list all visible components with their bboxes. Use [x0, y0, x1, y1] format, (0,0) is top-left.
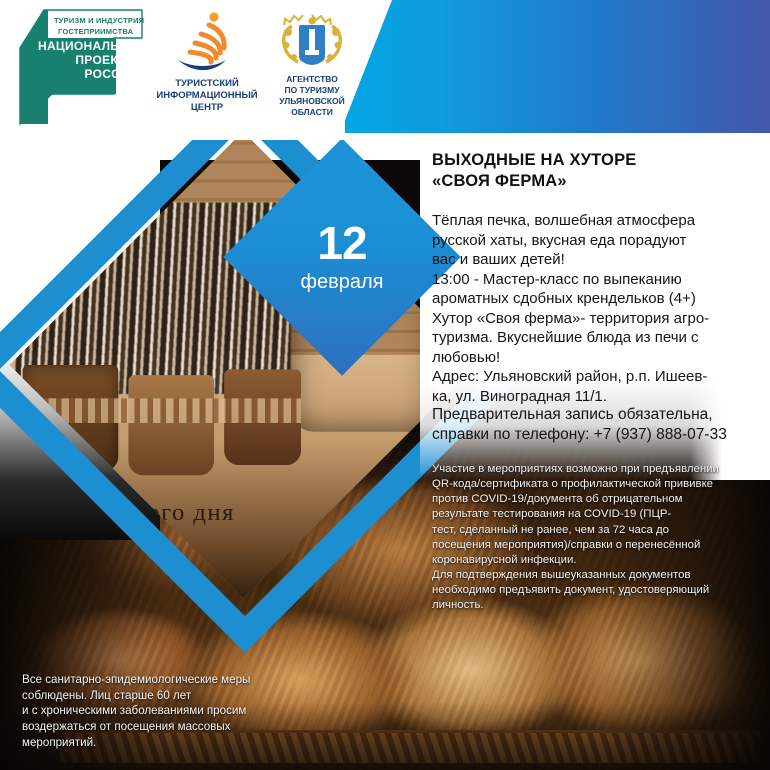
sanitary-notice-line-3: и с хроническими заболеваниями просим — [22, 703, 322, 719]
event-description-line-3: вас и ваших детей! — [432, 250, 762, 270]
np-tagline-line1: ТУРИЗМ И ИНДУСТРИЯ — [54, 16, 144, 25]
event-description-line-10: ка, ул. Виноградная 11/1. — [432, 387, 762, 407]
covid-notice-line-6: посещения мероприятия)/справки о перенес… — [432, 538, 764, 553]
tic-label-line2: ИНФОРМАЦИОННЫЙ — [152, 90, 262, 102]
covid-notice-line-8: Для подтверждения вышеуказанных документ… — [432, 568, 764, 583]
event-title-line1: ВЫХОДНЫЕ НА ХУТОРЕ — [432, 150, 762, 171]
covid-notice-line-3: против COVID-19/документа об отрицательн… — [432, 492, 764, 507]
covid-notice-line-4: результате тестирования на COVID-19 (ПЦР… — [432, 507, 764, 522]
sailboat-icon — [152, 10, 262, 80]
covid-notice-line-9: необходимо предъявить документ, удостове… — [432, 583, 764, 598]
event-description-line-9: Адрес: Ульяновский район, р.п. Ишеев- — [432, 367, 762, 387]
agency-label-line2: ПО ТУРИЗМУ — [262, 85, 362, 96]
agency-label: АГЕНТСТВО ПО ТУРИЗМУ УЛЬЯНОВСКОЙ ОБЛАСТИ — [262, 74, 362, 118]
np-label-line1: НАЦИОНАЛЬНЫЕ — [38, 39, 138, 53]
tourism-agency-logo: АГЕНТСТВО ПО ТУРИЗМУ УЛЬЯНОВСКОЙ ОБЛАСТИ — [262, 12, 362, 130]
event-description-line-1: Тёплая печка, волшебная атмосфера — [432, 211, 762, 231]
booking-line2: справки по телефону: +7 (937) 888-07-33 — [432, 425, 768, 445]
sanitary-notice-line-2: соблюдены. Лиц старше 60 лет — [22, 688, 322, 704]
agency-label-line4: ОБЛАСТИ — [262, 107, 362, 118]
agency-label-line1: АГЕНТСТВО — [262, 74, 362, 85]
covid-notice-line-1: Участие в мероприятиях возможно при пред… — [432, 462, 764, 477]
tic-label: ТУРИСТСКИЙ ИНФОРМАЦИОННЫЙ ЦЕНТР — [152, 78, 262, 114]
event-description: Тёплая печка, волшебная атмосферарусской… — [432, 211, 762, 406]
covid-notice-line-7: коронавирусной инфекции. — [432, 553, 764, 568]
ulyanovsk-coat-of-arms-icon — [262, 12, 362, 74]
event-description-line-7: туризма. Вкуснейшие блюда из печи с — [432, 328, 762, 348]
np-label-line2: ПРОЕКТЫ — [38, 53, 138, 67]
booking-line1: Предварительная запись обязательна, — [432, 405, 768, 425]
sanitary-notice: Все санитарно-эпидемиологические мерысоб… — [22, 672, 322, 750]
np-label-line3: РОССИИ — [38, 67, 138, 81]
date-day: 12 — [317, 220, 366, 266]
sanitary-notice-line-1: Все санитарно-эпидемиологические меры — [22, 672, 322, 688]
date-month: февраля — [301, 270, 384, 294]
national-projects-logo: ТУРИЗМ И ИНДУСТРИЯ ГОСТЕПРИИМСТВА НАЦИОН… — [14, 8, 146, 126]
tic-label-line3: ЦЕНТР — [152, 102, 262, 114]
tic-label-line1: ТУРИСТСКИЙ — [152, 78, 262, 90]
event-title: ВЫХОДНЫЕ НА ХУТОРЕ «СВОЯ ФЕРМА» — [432, 150, 762, 192]
event-description-line-4: 13:00 - Мастер-класс по выпеканию — [432, 270, 762, 290]
covid-notice: Участие в мероприятиях возможно при пред… — [432, 462, 764, 614]
event-description-line-2: русской хаты, вкусная еда порадуют — [432, 231, 762, 251]
covid-notice-line-2: QR-кода/сертификата о профилактической п… — [432, 477, 764, 492]
booking-notice: Предварительная запись обязательна, спра… — [432, 405, 768, 446]
event-description-line-6: Хутор «Своя ферма»- территория агро- — [432, 309, 762, 329]
covid-notice-line-5: тест, сделанный не ранее, чем за 72 часа… — [432, 523, 764, 538]
event-description-line-5: ароматных сдобных крендельков (4+) — [432, 289, 762, 309]
sanitary-notice-line-4: воздержаться от посещения массовых — [22, 719, 322, 735]
sanitary-notice-line-5: мероприятий. — [22, 735, 322, 751]
logo-strip: ТУРИЗМ И ИНДУСТРИЯ ГОСТЕПРИИМСТВА НАЦИОН… — [0, 0, 345, 140]
poster: ого дня 12 февраля КУДА СХОДИТЬ В ВЫХОДН… — [0, 0, 770, 770]
tourist-info-center-logo: ТУРИСТСКИЙ ИНФОРМАЦИОННЫЙ ЦЕНТР — [152, 10, 262, 130]
event-description-line-8: любовью! — [432, 348, 762, 368]
event-title-line2: «СВОЯ ФЕРМА» — [432, 171, 762, 192]
date-badge: 12 февраля — [223, 138, 461, 376]
np-tagline-line2: ГОСТЕПРИИМСТВА — [58, 27, 133, 36]
covid-notice-line-10: личность. — [432, 598, 764, 613]
agency-label-line3: УЛЬЯНОВСКОЙ — [262, 96, 362, 107]
event-info: ВЫХОДНЫЕ НА ХУТОРЕ «СВОЯ ФЕРМА» Тёплая п… — [432, 150, 762, 406]
